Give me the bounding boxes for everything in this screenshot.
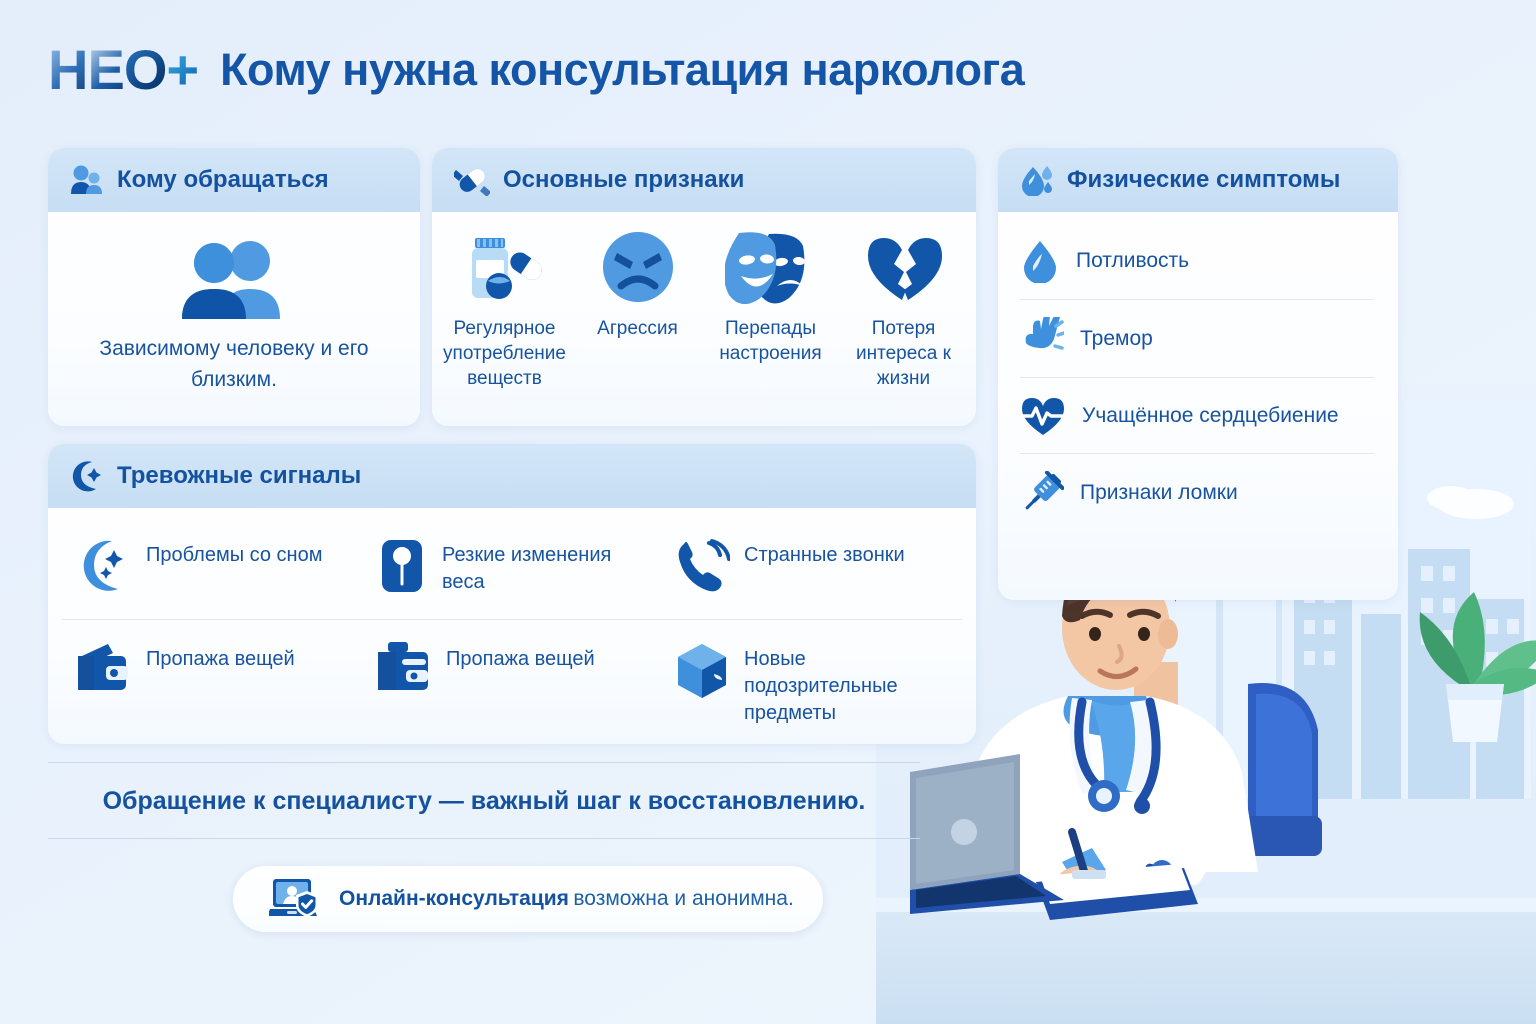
logo-letter-n: Н bbox=[48, 42, 87, 98]
sign-label: Перепады настроения bbox=[706, 316, 835, 366]
alert-item: Проблемы со сном bbox=[62, 516, 362, 620]
logo-letter-o: О bbox=[124, 42, 167, 98]
sign-item: Агрессия bbox=[573, 230, 702, 391]
card-alerts-header: Тревожные сигналы bbox=[48, 444, 976, 508]
card-physical-title: Физические симптомы bbox=[1067, 166, 1340, 194]
physical-symptom-row: Учащённое сердцебиение bbox=[1020, 378, 1374, 454]
laptop-verified-icon bbox=[269, 877, 323, 921]
card-physical-symptoms: Физические симптомы Потливость Тр bbox=[998, 148, 1398, 600]
footer-claim-block: Обращение к специалисту — важный шаг к в… bbox=[48, 762, 920, 839]
card-who-header: Кому обращаться bbox=[48, 148, 420, 212]
physical-symptom-row: Потливость bbox=[1020, 222, 1374, 300]
heart-pulse-icon bbox=[1020, 395, 1066, 437]
alert-label: Пропажа вещей bbox=[146, 642, 295, 673]
footer-claim-text: Обращение к специалисту — важный шаг к в… bbox=[48, 763, 920, 838]
crescent-moon-icon bbox=[76, 538, 132, 594]
physical-symptom-label: Учащённое сердцебиение bbox=[1082, 402, 1339, 429]
wallet-icon bbox=[76, 642, 132, 694]
brand-logo: Н Е О + bbox=[48, 42, 198, 98]
card-physical-list: Потливость Тремор Учащённое сердце bbox=[998, 212, 1398, 531]
sign-label: Потеря интереса к жизни bbox=[839, 316, 968, 391]
alert-item: Новые подозрительные предметы bbox=[662, 620, 962, 744]
alert-label: Проблемы со сном bbox=[146, 538, 322, 569]
card-who-title: Кому обращаться bbox=[117, 166, 329, 194]
weight-scale-icon bbox=[376, 538, 428, 594]
card-who-text: Зависимому человеку и его близким. bbox=[68, 333, 400, 396]
water-drops-icon bbox=[1020, 164, 1054, 196]
alert-item: Резкие изменения веса bbox=[362, 516, 662, 620]
physical-symptom-label: Потливость bbox=[1076, 247, 1189, 274]
alert-label: Новые подозрительные предметы bbox=[744, 642, 954, 727]
logo-plus: + bbox=[166, 42, 198, 98]
sign-item: Регулярное употребление веществ bbox=[440, 230, 569, 391]
card-who-body: Зависимому человеку и его близким. bbox=[48, 212, 420, 426]
badge-text: Онлайн-консультация возможна и анонимна. bbox=[339, 887, 794, 911]
alert-label: Странные звонки bbox=[744, 538, 905, 569]
sign-item: Перепады настроения bbox=[706, 230, 835, 391]
card-signs-header: Основные признаки bbox=[432, 148, 976, 212]
pill-bottle-icon bbox=[465, 230, 545, 304]
crescent-moon-icon bbox=[70, 459, 104, 493]
physical-symptom-row: Признаки ломки bbox=[1020, 454, 1374, 531]
alert-label: Резкие изменения веса bbox=[442, 538, 654, 596]
sign-item: Потеря интереса к жизни bbox=[839, 230, 968, 391]
alert-item: Странные звонки bbox=[662, 516, 962, 620]
badge-text-strong: Онлайн-консультация bbox=[339, 887, 569, 910]
physical-symptom-label: Признаки ломки bbox=[1080, 479, 1238, 506]
angry-face-icon bbox=[601, 230, 675, 304]
people-icon bbox=[70, 165, 104, 195]
two-people-icon bbox=[174, 241, 294, 319]
alert-item: Пропажа вещей bbox=[362, 620, 662, 744]
sign-label: Регулярное употребление веществ bbox=[440, 316, 569, 391]
syringe-icon bbox=[1020, 471, 1064, 515]
alert-item: Пропажа вещей bbox=[62, 620, 362, 744]
card-physical-header: Физические симптомы bbox=[998, 148, 1398, 212]
physical-symptom-label: Тремор bbox=[1080, 325, 1153, 352]
card-alerts-title: Тревожные сигналы bbox=[117, 462, 361, 490]
pill-capsule-icon bbox=[454, 164, 490, 196]
badge-text-rest: возможна и анонимна. bbox=[573, 887, 793, 910]
box-package-icon bbox=[676, 642, 730, 700]
sign-label: Агрессия bbox=[597, 316, 678, 341]
water-drop-icon bbox=[1020, 239, 1060, 283]
card-main-signs: Основные признаки Регулярное употреб bbox=[432, 148, 976, 426]
broken-heart-icon bbox=[864, 230, 944, 304]
trembling-hand-icon bbox=[1020, 317, 1064, 361]
page-title: Кому нужна консультация нарколога bbox=[220, 44, 1024, 96]
page-header: Н Е О + Кому нужна консультация нарколог… bbox=[48, 34, 1024, 106]
card-alerts-grid: Проблемы со сном Резкие изменения веса bbox=[48, 508, 976, 744]
card-alert-signals: Тревожные сигналы Проблемы со сном bbox=[48, 444, 976, 744]
divider-bottom bbox=[48, 838, 920, 839]
card-signs-title: Основные признаки bbox=[503, 166, 744, 194]
physical-symptom-row: Тремор bbox=[1020, 300, 1374, 378]
card-signs-grid: Регулярное употребление веществ Агрессия bbox=[432, 212, 976, 391]
online-consultation-badge[interactable]: Онлайн-консультация возможна и анонимна. bbox=[233, 866, 823, 932]
logo-letter-e: Е bbox=[87, 42, 123, 98]
phone-ringing-icon bbox=[676, 538, 730, 594]
alert-label: Пропажа вещей bbox=[446, 642, 595, 673]
card-who-to-contact: Кому обращаться Зависимому человеку и ег… bbox=[48, 148, 420, 426]
theater-masks-icon bbox=[725, 230, 817, 304]
wallet-icon bbox=[376, 642, 432, 694]
